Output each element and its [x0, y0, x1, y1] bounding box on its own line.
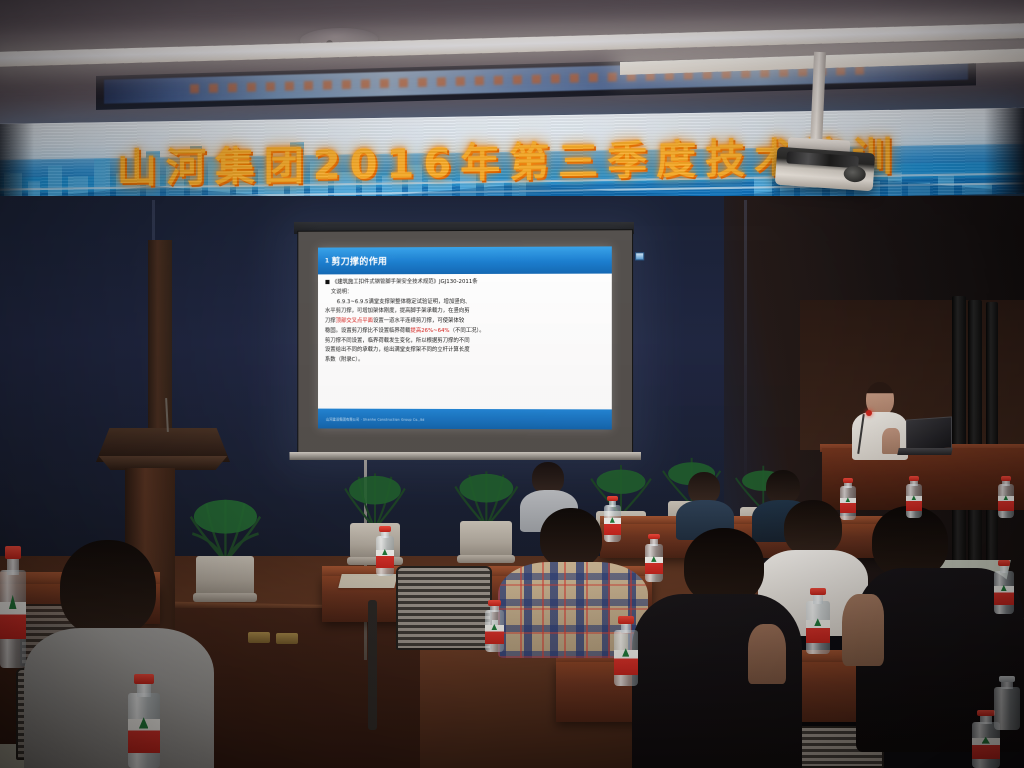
bottle-cap — [134, 674, 154, 684]
bottle-cap — [810, 588, 825, 595]
water-bottle[interactable] — [994, 560, 1014, 614]
water-bottle[interactable] — [840, 478, 856, 520]
slide-footer: 山河建设集团有限公司 · Shanhe Construction Group C… — [318, 409, 612, 430]
slide-bullet-line: ■《建筑施工扣件式钢管脚手架安全技术规范》JGJ130-2011条 — [325, 278, 605, 287]
bottle-cap — [379, 526, 391, 532]
audience-member-gray-shirt — [24, 540, 214, 768]
plant-pot-rim — [347, 557, 403, 565]
bottle-cap — [843, 478, 853, 483]
person-arm — [842, 594, 884, 666]
slide-paragraph-3: 刀撑顶部交叉点平面设置一道水平连续剪刀撑，可使架体较 — [325, 317, 605, 326]
palm-foliage — [341, 470, 409, 529]
person-torso — [24, 628, 214, 768]
conference-room-photo: 山河集团2016年第三季度技术培训 1 剪刀撑的作用 ■《建筑施工扣件式钢管脚手… — [0, 0, 1024, 768]
bottle-cap — [488, 600, 500, 606]
presentation-slide: 1 剪刀撑的作用 ■《建筑施工扣件式钢管脚手架安全技术规范》JGJ130-201… — [318, 246, 612, 430]
projection-screen: 1 剪刀撑的作用 ■《建筑施工扣件式钢管脚手架安全技术规范》JGJ130-201… — [297, 229, 633, 456]
bottle-cap — [618, 616, 633, 624]
slide-p4-highlight: 提高26%~64% — [410, 328, 449, 334]
slide-title-number: 1 — [325, 257, 330, 264]
audience-member — [676, 472, 734, 534]
water-bottle[interactable] — [0, 546, 26, 668]
slide-paragraph-2: 水平剪刀撑，可增加架体刚度，提高脚手架承载力，在竖向剪 — [325, 307, 605, 316]
slide-body: ■《建筑施工扣件式钢管脚手架安全技术规范》JGJ130-2011条 文说明： 6… — [318, 274, 612, 410]
slide-p3-a: 刀撑 — [325, 318, 336, 324]
person-head — [540, 508, 602, 568]
bottle-cap — [648, 534, 660, 539]
screen-corner-marker — [635, 252, 644, 260]
floor-socket-cover — [248, 632, 270, 643]
water-bottle[interactable] — [485, 600, 504, 652]
bottle-cap — [607, 496, 618, 501]
water-bottle[interactable] — [806, 588, 830, 654]
chair-leg — [368, 600, 377, 730]
bottle-cap — [5, 546, 22, 559]
wall-seam — [744, 200, 747, 500]
person-head — [60, 540, 156, 636]
slide-p4-a: 稳固。设置剪刀撑比不设置临界荷载 — [325, 328, 410, 334]
presenter — [852, 382, 908, 458]
bottle-cap — [909, 476, 919, 481]
banner-edge-shadow-right — [984, 108, 1024, 195]
presenter-laptop-screen — [906, 416, 952, 451]
floor-socket-cover — [276, 633, 298, 644]
bottle-cap — [998, 560, 1011, 566]
water-bottle[interactable] — [128, 674, 160, 768]
slide-p4-b: （不同工况）。 — [450, 328, 485, 334]
bottle-cap — [999, 676, 1016, 682]
slide-bullet-line-2: 文说明： — [325, 287, 605, 296]
slide-title-bar: 1 剪刀撑的作用 — [318, 246, 612, 274]
slide-p3-highlight: 顶部交叉点平面 — [336, 318, 373, 324]
bottle-cap — [977, 710, 995, 716]
person-head — [684, 528, 764, 604]
handout-paper[interactable] — [338, 574, 397, 588]
water-bottle[interactable] — [998, 476, 1014, 518]
slide-paragraph-6: 设置给出不同的承载力，给出满堂支撑架不同的立杆计算长度 — [325, 346, 605, 355]
conference-chair[interactable] — [396, 566, 492, 650]
screen-bottom-bar — [289, 452, 641, 460]
slide-bullet-marker: ■ — [325, 279, 330, 285]
person-arm — [748, 624, 786, 684]
slide-paragraph-1: 6.9.3~6.9.5满堂支撑架整体稳定试验证明，增加竖向、 — [325, 297, 605, 306]
water-bottle[interactable] — [614, 616, 638, 686]
microphone-indicator-icon — [866, 410, 872, 416]
presenter-laptop-base — [897, 448, 952, 455]
water-bottle[interactable] — [906, 476, 922, 518]
slide-paragraph-7: 系数（附录C）。 — [325, 356, 605, 365]
projector — [775, 147, 875, 192]
bottle-cap — [1001, 476, 1011, 481]
water-bottle[interactable] — [604, 496, 621, 542]
slide-paragraph-4: 稳固。设置剪刀撑比不设置临界荷载提高26%~64%（不同工况）。 — [325, 327, 605, 336]
water-bottle[interactable] — [376, 526, 394, 576]
bottle-body — [994, 687, 1020, 730]
water-bottle[interactable] — [645, 534, 663, 582]
slide-bullet-text: 《建筑施工扣件式钢管脚手架安全技术规范》JGJ130-2011条 — [332, 279, 478, 285]
water-bottle[interactable] — [994, 676, 1020, 730]
slide-p3-b: 设置一道水平连续剪刀撑，可使架体较 — [373, 318, 464, 324]
slide-title-text: 剪刀撑的作用 — [331, 254, 387, 267]
slide-paragraph-5: 剪刀撑不同设置，临界荷载发生变化，所以根据剪刀撑的不同 — [325, 336, 605, 345]
person-head — [766, 470, 800, 504]
